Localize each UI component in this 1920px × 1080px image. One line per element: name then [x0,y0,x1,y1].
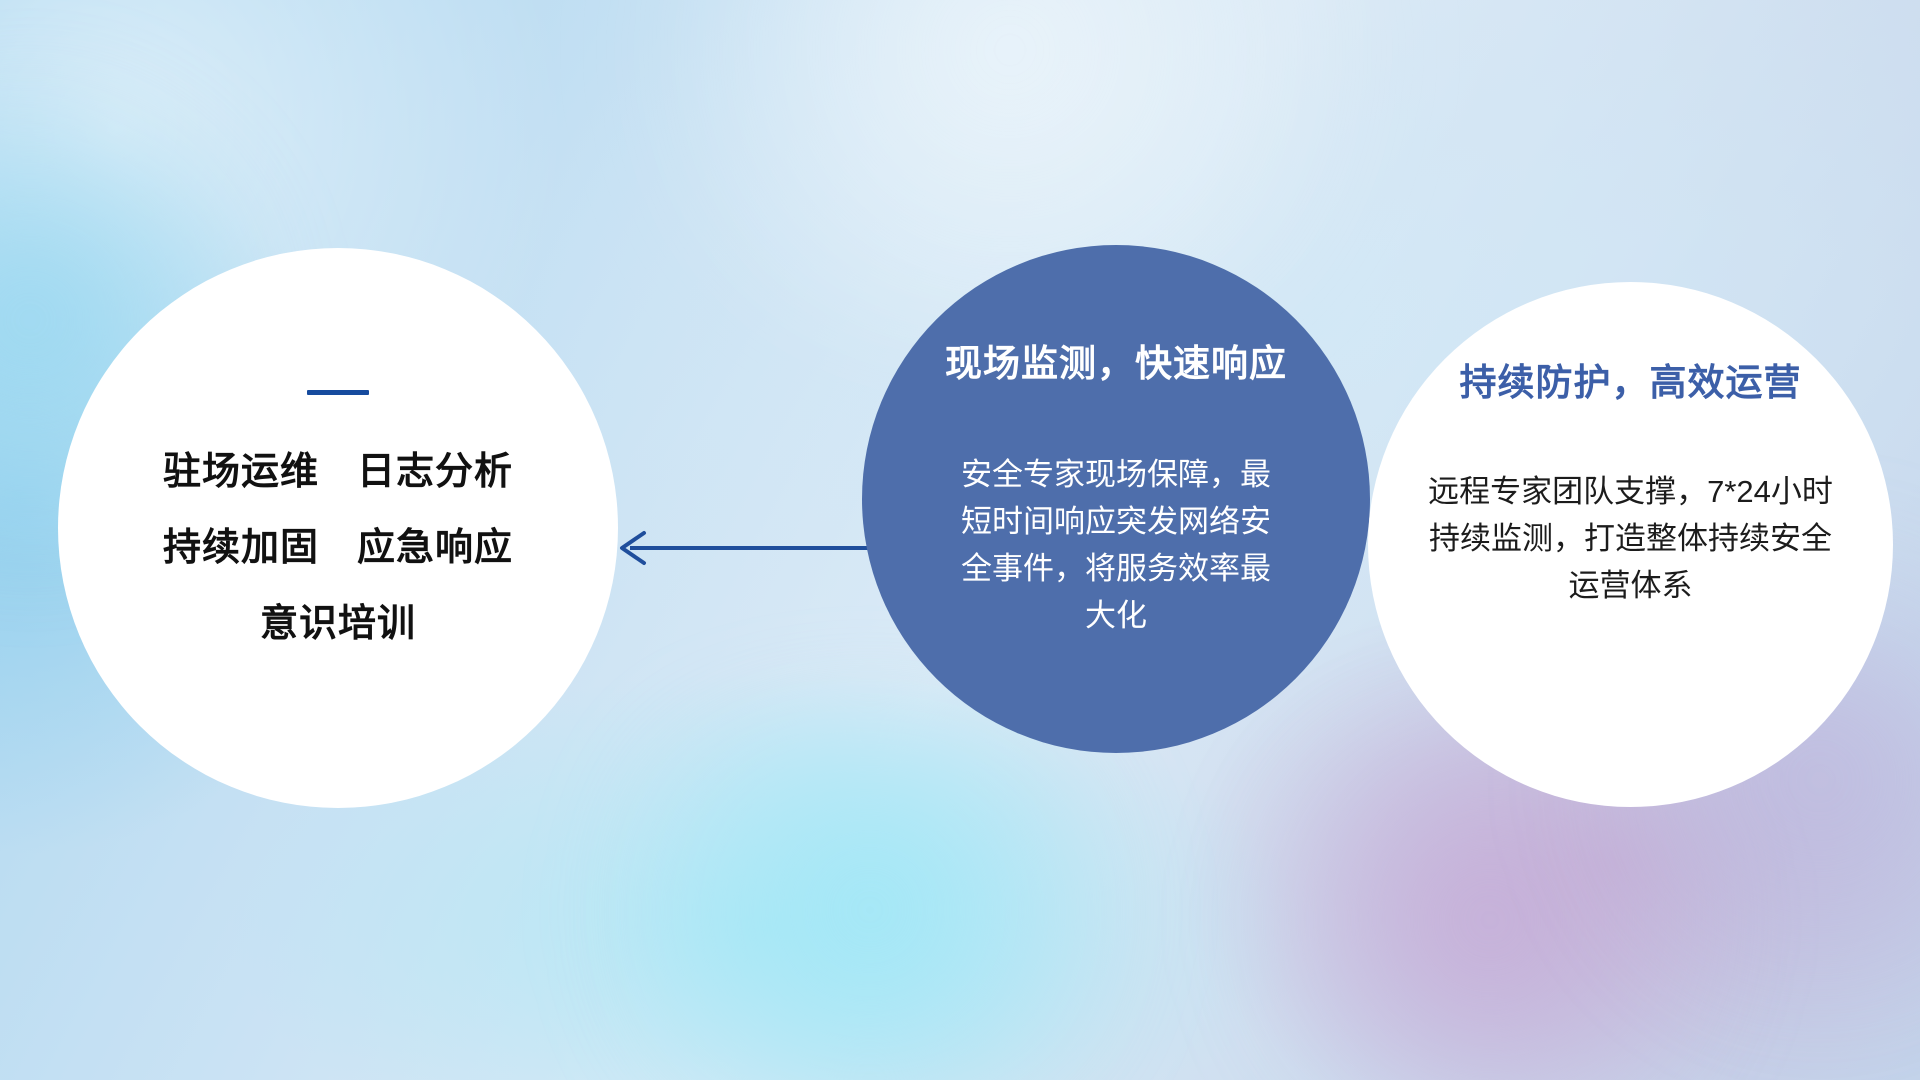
onsite-monitoring-body: 安全专家现场保障，最短时间响应突发网络安全事件，将服务效率最大化 [951,451,1281,639]
arrow-left-icon [600,515,890,575]
slide-canvas: 驻场运维 日志分析 持续加固 应急响应 意识培训 现场监测，快速响应 安全专家现… [0,0,1920,1080]
capability-keyword-list: 驻场运维 日志分析 持续加固 应急响应 意识培训 [58,453,618,643]
keyword-row: 驻场运维 日志分析 [58,453,618,491]
onsite-monitoring-title: 现场监测，快速响应 [945,333,1287,387]
keyword-item: 驻场运维 [163,453,319,491]
keyword-row: 持续加固 应急响应 [58,529,618,567]
left-capability-circle[interactable]: 驻场运维 日志分析 持续加固 应急响应 意识培训 [58,248,618,808]
flow-connector [600,515,890,575]
keyword-item: 日志分析 [357,453,513,491]
continuous-protection-circle[interactable]: 持续防护，高效运营 远程专家团队支撑，7*24小时持续监测，打造整体持续安全运营… [1368,282,1893,807]
background-glow-cyan-bottom [520,700,1220,1080]
keyword-item: 持续加固 [163,529,319,567]
continuous-protection-title: 持续防护，高效运营 [1460,352,1802,406]
dash-divider-icon [307,390,369,395]
keyword-item: 意识培训 [58,605,618,643]
keyword-item: 应急响应 [357,529,513,567]
continuous-protection-body: 远程专家团队支撑，7*24小时持续监测，打造整体持续安全运营体系 [1421,468,1841,609]
onsite-monitoring-circle[interactable]: 现场监测，快速响应 安全专家现场保障，最短时间响应突发网络安全事件，将服务效率最… [862,245,1370,753]
